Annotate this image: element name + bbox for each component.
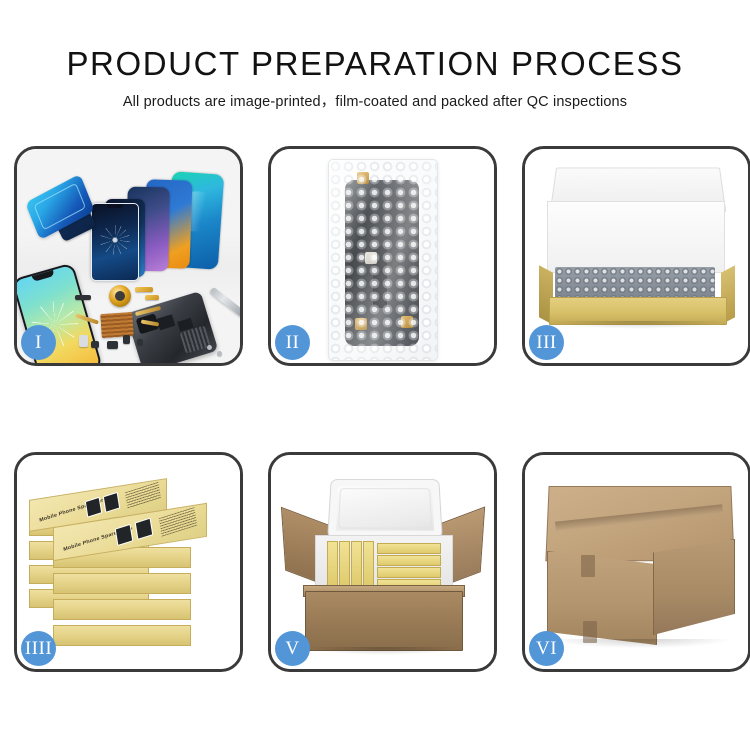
carton-side-panel	[653, 539, 735, 635]
drop-shadow	[307, 647, 461, 655]
phone-print-icon	[115, 524, 134, 546]
step-badge-6: VI	[529, 631, 564, 666]
process-step-card-1[interactable]: I	[14, 146, 243, 366]
phone-notch	[107, 204, 123, 208]
phone-notch	[32, 270, 55, 282]
packed-yellow-box	[327, 541, 338, 587]
speaker-coil-icon	[109, 285, 131, 307]
box-print-textlines	[125, 482, 161, 510]
step-badge-5: V	[275, 631, 310, 666]
phone-print-icon	[85, 497, 102, 518]
chip-icon	[123, 335, 130, 344]
packed-yellow-box	[363, 541, 374, 587]
crack-pattern-icon	[100, 225, 130, 255]
step-badge-4: IIII	[21, 631, 56, 666]
packed-yellow-box	[377, 555, 441, 566]
page-title: PRODUCT PREPARATION PROCESS	[0, 0, 750, 84]
chip-icon	[137, 339, 143, 345]
screw-icon	[207, 345, 212, 350]
page-subtitle: All products are image-printed，film-coat…	[0, 84, 750, 111]
chip-icon	[75, 295, 91, 300]
sim-tray-icon	[79, 335, 88, 347]
stacked-box	[53, 573, 191, 594]
foam-sheet-icon	[547, 201, 725, 273]
step-badge-1: I	[21, 325, 56, 360]
drop-shadow	[551, 321, 727, 329]
bubble-wrapped-contents-icon	[555, 267, 715, 299]
flex-cable-icon	[135, 287, 153, 292]
carton-front-panel	[547, 551, 657, 645]
process-step-card-3[interactable]: III	[522, 146, 750, 366]
foam-cooler-lid-icon	[327, 479, 443, 539]
process-step-card-4[interactable]: Mobile Phone Spare Parts Mobile Phone Sp…	[14, 452, 243, 672]
stacked-box	[53, 599, 191, 620]
plastic-gloss-overlay	[329, 160, 437, 360]
drop-shadow	[551, 639, 729, 648]
phone-print-icon	[103, 492, 120, 513]
carton-front-panel	[305, 591, 463, 651]
packed-yellow-box	[351, 541, 362, 587]
process-step-card-2[interactable]: II	[268, 146, 497, 366]
bubble-wrap-bag-icon	[328, 159, 438, 361]
phone-print-icon	[135, 518, 154, 540]
process-step-card-5[interactable]: V	[268, 452, 497, 672]
chip-icon	[107, 341, 118, 349]
product-preparation-page: PRODUCT PREPARATION PROCESS All products…	[0, 0, 750, 750]
step-badge-3: III	[529, 325, 564, 360]
chip-icon	[91, 341, 99, 348]
screw-icon	[217, 351, 222, 356]
step-badge-2: II	[275, 325, 310, 360]
flex-cable-icon	[145, 295, 159, 300]
process-step-card-6[interactable]: VI	[522, 452, 750, 672]
stacked-box	[53, 625, 191, 646]
packed-yellow-box	[339, 541, 350, 587]
page-header: PRODUCT PREPARATION PROCESS All products…	[0, 0, 750, 111]
packed-yellow-box	[377, 543, 441, 554]
carton-flap-tab	[581, 555, 595, 577]
tempered-glass-screen-icon	[91, 203, 139, 281]
packed-yellow-box	[377, 567, 441, 578]
box-print-textlines	[159, 507, 198, 537]
process-steps-grid: I II	[14, 146, 748, 672]
